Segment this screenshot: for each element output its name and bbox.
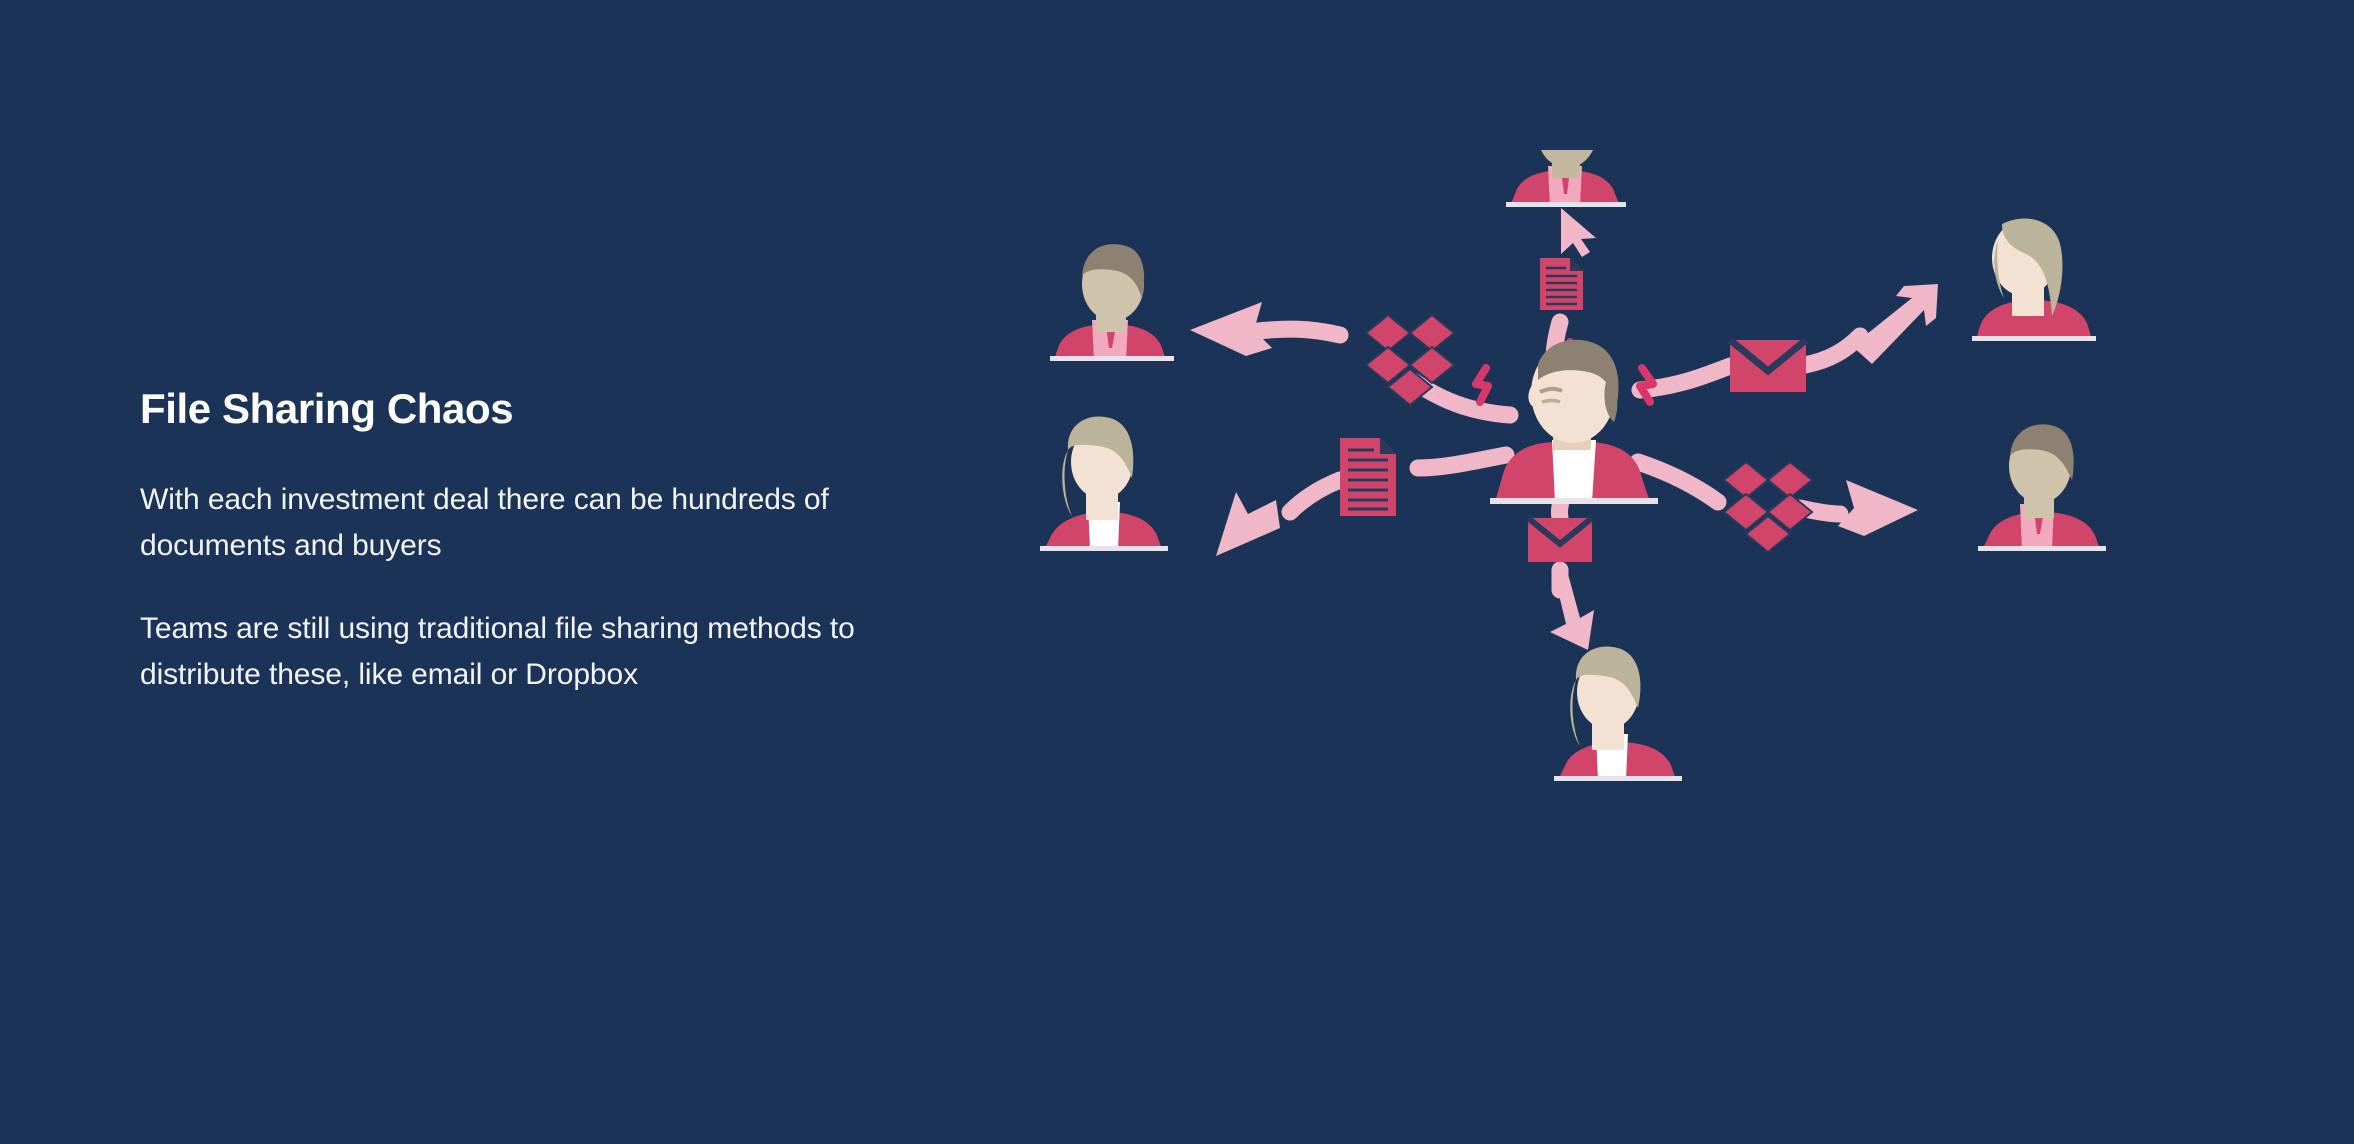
page-title: File Sharing Chaos bbox=[140, 385, 900, 433]
connector-upper-right-b bbox=[1805, 336, 1860, 365]
dropbox-lr-diamond-tl bbox=[1724, 462, 1768, 498]
person-lower-right bbox=[1978, 424, 2106, 551]
person-top-baseline bbox=[1506, 202, 1626, 207]
text-panel: File Sharing Chaos With each investment … bbox=[140, 385, 900, 698]
document-icon-lower-left-lines bbox=[1348, 450, 1388, 509]
person-top bbox=[1506, 150, 1626, 207]
person-upper-left-baseline bbox=[1050, 356, 1174, 361]
arrow-lower-left-icon bbox=[1216, 492, 1280, 556]
channel-upper-right bbox=[1730, 218, 2096, 392]
document-icon-up-fold bbox=[1570, 258, 1583, 271]
slide-root: File Sharing Chaos With each investment … bbox=[0, 0, 2354, 1144]
connector-upper-left-b bbox=[1258, 329, 1340, 335]
channel-down bbox=[1528, 518, 1682, 781]
person-lower-left bbox=[1040, 416, 1168, 551]
connector-lower-left-b bbox=[1290, 480, 1340, 512]
center-person-baseline bbox=[1490, 498, 1658, 504]
arrow-right-icon-lower-right bbox=[1838, 480, 1918, 536]
arrow-upper-right-icon bbox=[1852, 284, 1938, 364]
document-icon-up bbox=[1540, 258, 1583, 310]
channel-lower-left bbox=[1040, 416, 1396, 556]
channel-up bbox=[1506, 150, 1626, 310]
person-upper-right bbox=[1972, 218, 2096, 341]
center-person-eye bbox=[1542, 401, 1560, 403]
dropbox-lr-diamond-tr bbox=[1768, 462, 1812, 498]
person-lower-right-baseline bbox=[1978, 546, 2106, 551]
connector-lower-right-a bbox=[1638, 462, 1718, 502]
cursor-arrow-icon-up bbox=[1561, 208, 1596, 257]
connector-lower-left-a bbox=[1418, 455, 1506, 468]
channel-lower-right bbox=[1724, 424, 2106, 552]
lightning-bolt-left-icon bbox=[1476, 368, 1488, 402]
dropbox-icon-lower-right bbox=[1724, 462, 1812, 552]
document-icon-lower-left-fold bbox=[1380, 438, 1396, 454]
file-sharing-chaos-illustration bbox=[1040, 150, 2180, 950]
dropbox-diamond-tr bbox=[1410, 315, 1454, 351]
email-icon-upper-right bbox=[1730, 340, 1806, 392]
person-top-head bbox=[1537, 150, 1597, 168]
illustration-svg bbox=[1040, 150, 2180, 950]
document-icon-lower-left bbox=[1340, 438, 1396, 516]
person-lower-left-baseline bbox=[1040, 546, 1168, 551]
person-lower-left-hairside bbox=[1062, 450, 1072, 516]
person-upper-right-baseline bbox=[1972, 336, 2096, 341]
person-upper-left bbox=[1050, 244, 1174, 361]
person-bottom bbox=[1554, 646, 1682, 781]
person-bottom-baseline bbox=[1554, 776, 1682, 781]
email-icon-down bbox=[1528, 518, 1592, 562]
body-paragraph-2: Teams are still using traditional file s… bbox=[140, 606, 860, 697]
dropbox-diamond-tl bbox=[1366, 315, 1410, 351]
body-paragraph-1: With each investment deal there can be h… bbox=[140, 477, 860, 568]
channel-upper-left bbox=[1050, 244, 1454, 405]
